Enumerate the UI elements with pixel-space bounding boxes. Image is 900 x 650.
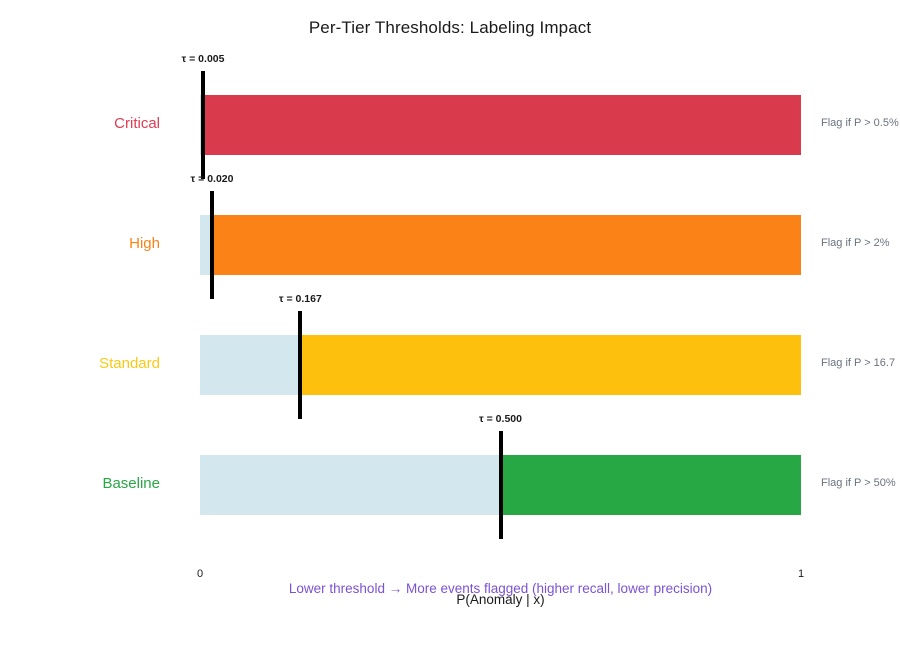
threshold-marker-line[interactable]	[298, 311, 302, 419]
tier-category-text: Critical	[0, 115, 160, 132]
tier-category-label: Critical	[0, 115, 200, 132]
threshold-value-label: τ = 0.500	[479, 413, 522, 425]
tier-row: τ = 0.167StandardFlag if P > 16.7	[200, 335, 801, 395]
tier-rule-note: Flag if P > 2%	[821, 237, 890, 249]
chart-figure: Per-Tier Thresholds: Labeling Impact τ =…	[0, 0, 900, 650]
x-axis-label: P(Anomaly | x)	[200, 592, 801, 607]
tier-category-label: High	[0, 235, 200, 252]
threshold-value-label: τ = 0.020	[191, 173, 234, 185]
tier-rule-note: Flag if P > 16.7	[821, 357, 895, 369]
tier-category-text: High	[0, 235, 160, 252]
tier-rule-note: Flag if P > 0.5%	[821, 117, 899, 129]
tier-row: τ = 0.500BaselineFlag if P > 50%	[200, 455, 801, 515]
tier-row: τ = 0.020HighFlag if P > 2%	[200, 215, 801, 275]
tier-flagged-bar[interactable]	[300, 335, 801, 395]
page-title: Per-Tier Thresholds: Labeling Impact	[0, 18, 900, 38]
plot-area: τ = 0.005CriticalFlag if P > 0.5%τ = 0.0…	[200, 60, 801, 560]
threshold-marker-line[interactable]	[201, 71, 205, 179]
threshold-value-label: τ = 0.167	[279, 293, 322, 305]
tier-row: τ = 0.005CriticalFlag if P > 0.5%	[200, 95, 801, 155]
threshold-marker-line[interactable]	[499, 431, 503, 539]
threshold-marker-line[interactable]	[210, 191, 214, 299]
threshold-value-label: τ = 0.005	[182, 53, 225, 65]
tier-flagged-bar[interactable]	[501, 455, 802, 515]
tier-flagged-bar[interactable]	[212, 215, 801, 275]
tier-unflagged-track	[200, 335, 300, 395]
tier-rule-note: Flag if P > 50%	[821, 477, 896, 489]
x-axis-tick-label: 0	[197, 568, 203, 580]
tier-category-text: Standard	[0, 355, 160, 372]
tier-unflagged-track	[200, 455, 501, 515]
x-axis-tick-label: 1	[798, 568, 804, 580]
tier-category-label: Standard	[0, 355, 200, 372]
tier-category-text: Baseline	[0, 475, 160, 492]
tier-category-label: Baseline	[0, 475, 200, 492]
tier-flagged-bar[interactable]	[203, 95, 801, 155]
